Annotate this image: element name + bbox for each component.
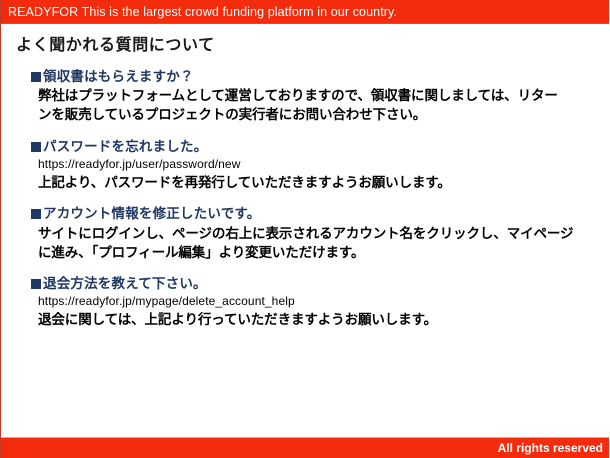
faq-answer-line: に進み、「プロフィール編集」より変更いただけます。 — [38, 243, 610, 262]
header-tagline: READYFOR This is the largest crowd fundi… — [1, 5, 397, 19]
faq-item: アカウント情報を修正したいです。 サイトにログインし、ページの右上に表示されるア… — [1, 205, 610, 262]
faq-question-text: パスワードを忘れました。 — [43, 138, 207, 156]
faq-item: 領収書はもらえますか？ 弊社はプラットフォームとして運営しておりますので、領収書… — [1, 68, 610, 125]
page-title: よく聞かれる質問について — [16, 36, 610, 56]
faq-question-text: アカウント情報を修正したいです。 — [43, 205, 260, 223]
faq-answer-line: 上記より、パスワードを再発行していただきますようお願いします。 — [38, 173, 610, 192]
square-bullet-icon — [31, 279, 41, 289]
header-bar: READYFOR This is the largest crowd fundi… — [1, 0, 610, 24]
faq-answer-url[interactable]: https://readyfor.jp/mypage/delete_accoun… — [38, 293, 610, 310]
faq-answer-line: サイトにログインし、ページの右上に表示されるアカウント名をクリックし、マイページ — [38, 224, 610, 243]
slide-root: READYFOR This is the largest crowd fundi… — [0, 0, 610, 458]
faq-question-row: 退会方法を教えて下さい。 — [31, 275, 610, 293]
faq-question-row: アカウント情報を修正したいです。 — [31, 205, 610, 223]
faq-question-row: 領収書はもらえますか？ — [31, 68, 610, 86]
faq-answer-line: 弊社はプラットフォームとして運営しておりますので、領収書に関しましては、リター — [38, 86, 610, 105]
faq-question-text: 退会方法を教えて下さい。 — [43, 275, 207, 293]
square-bullet-icon — [31, 72, 41, 82]
faq-question-row: パスワードを忘れました。 — [31, 138, 610, 156]
faq-item: パスワードを忘れました。 https://readyfor.jp/user/pa… — [1, 138, 610, 193]
faq-answer-line: 退会に関しては、上記より行っていただきますようお願いします。 — [38, 310, 610, 329]
content-area: よく聞かれる質問について 領収書はもらえますか？ 弊社はプラットフォームとして運… — [1, 24, 610, 437]
faq-answer-line: ンを販売しているプロジェクトの実行者にお問い合わせ下さい。 — [38, 105, 610, 124]
footer-bar: All rights reserved — [1, 437, 610, 458]
faq-item: 退会方法を教えて下さい。 https://readyfor.jp/mypage/… — [1, 275, 610, 330]
square-bullet-icon — [31, 209, 41, 219]
faq-answer-url[interactable]: https://readyfor.jp/user/password/new — [38, 156, 610, 173]
faq-question-text: 領収書はもらえますか？ — [43, 68, 194, 86]
faq-list: 領収書はもらえますか？ 弊社はプラットフォームとして運営しておりますので、領収書… — [1, 68, 610, 330]
square-bullet-icon — [31, 142, 41, 152]
footer-copyright-text: All rights reserved — [498, 441, 610, 455]
